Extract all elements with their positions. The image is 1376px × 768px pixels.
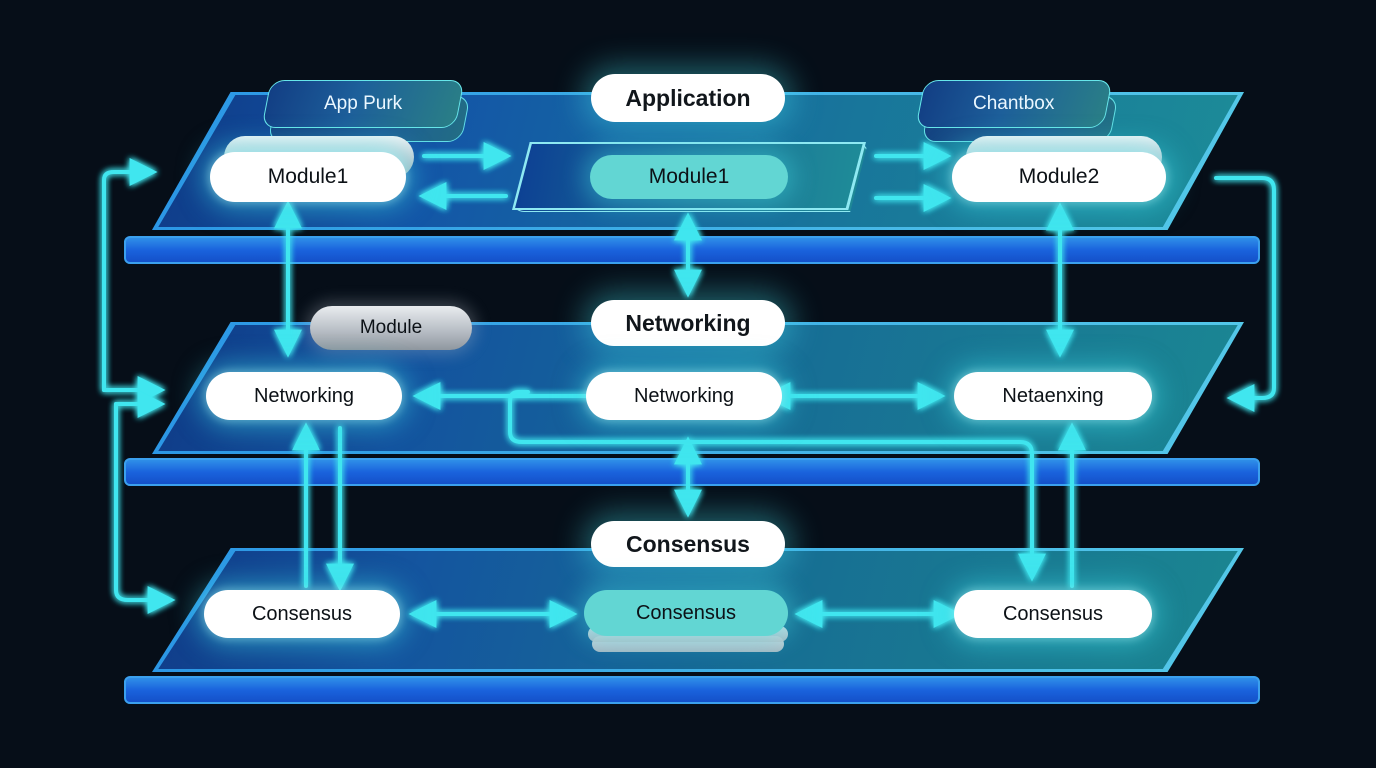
node-con-center[interactable]: Consensus bbox=[584, 590, 788, 636]
layer-header-networking-label: Networking bbox=[625, 310, 750, 337]
layer-edge-consensus bbox=[124, 676, 1260, 704]
node-con-center-label: Consensus bbox=[636, 602, 736, 625]
chip-app-purk-label: App Purk bbox=[324, 93, 402, 115]
layer-edge-networking bbox=[124, 458, 1260, 486]
node-app-center-label: Module1 bbox=[649, 165, 730, 189]
edge-strip-networking bbox=[124, 458, 1260, 486]
node-net-center[interactable]: Networking bbox=[586, 372, 782, 420]
node-con-left-label: Consensus bbox=[252, 603, 352, 626]
layer-header-consensus: Consensus bbox=[591, 521, 785, 567]
node-net-left[interactable]: Networking bbox=[206, 372, 402, 420]
edge-strip-application bbox=[124, 236, 1260, 264]
node-app-right-label: Module2 bbox=[1019, 165, 1100, 189]
layer-header-networking: Networking bbox=[591, 300, 785, 346]
node-app-left[interactable]: Module1 bbox=[210, 152, 406, 202]
node-net-left-label: Networking bbox=[254, 385, 354, 408]
layer-header-application-label: Application bbox=[625, 85, 750, 112]
layer-edge-application bbox=[124, 236, 1260, 264]
node-net-center-label: Networking bbox=[634, 385, 734, 408]
node-con-right-label: Consensus bbox=[1003, 603, 1103, 626]
node-app-left-label: Module1 bbox=[268, 165, 349, 189]
node-net-right[interactable]: Netaenxing bbox=[954, 372, 1152, 420]
node-con-right[interactable]: Consensus bbox=[954, 590, 1152, 638]
chip-module-label: Module bbox=[360, 317, 422, 339]
diagram-canvas: App Purk Chantbox Application Module1 Mo… bbox=[0, 0, 1376, 768]
chip-module[interactable]: Module bbox=[310, 306, 472, 350]
layer-header-consensus-label: Consensus bbox=[626, 531, 750, 558]
edge-strip-consensus bbox=[124, 676, 1260, 704]
node-net-right-label: Netaenxing bbox=[1002, 385, 1103, 408]
node-con-left[interactable]: Consensus bbox=[204, 590, 400, 638]
layer-header-application: Application bbox=[591, 74, 785, 122]
node-app-right[interactable]: Module2 bbox=[952, 152, 1166, 202]
chip-chantbox[interactable]: Chantbox bbox=[915, 80, 1112, 128]
chip-chantbox-label: Chantbox bbox=[973, 93, 1054, 115]
chip-app-purk[interactable]: App Purk bbox=[261, 80, 464, 128]
node-app-center[interactable]: Module1 bbox=[590, 155, 788, 199]
